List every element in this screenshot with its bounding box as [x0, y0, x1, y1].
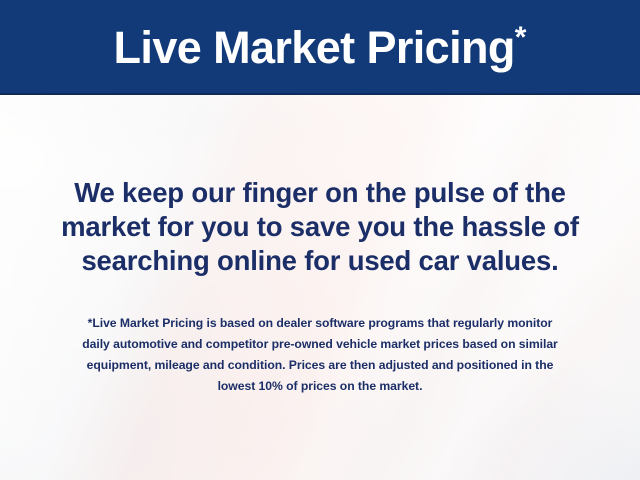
page-title: Live Market Pricing*: [114, 25, 527, 70]
header-band: Live Market Pricing*: [0, 0, 640, 95]
headline-line-1: We keep our finger on the pulse of the: [22, 176, 618, 210]
title-asterisk: *: [515, 21, 527, 54]
disclaimer-text: *Live Market Pricing is based on dealer …: [22, 313, 618, 397]
headline-line-2: market for you to save you the hassle of: [22, 210, 618, 244]
disclaimer-line-2: daily automotive and competitor pre-owne…: [22, 334, 618, 355]
headline-text: We keep our finger on the pulse of the m…: [22, 176, 618, 278]
headline-line-3: searching online for used car values.: [22, 244, 618, 278]
disclaimer-line-3: equipment, mileage and condition. Prices…: [22, 355, 618, 376]
disclaimer-line-1: *Live Market Pricing is based on dealer …: [22, 313, 618, 334]
disclaimer-line-4: lowest 10% of prices on the market.: [22, 376, 618, 397]
live-market-pricing-banner: Live Market Pricing* We keep our finger …: [0, 0, 640, 480]
page-title-text: Live Market Pricing: [114, 22, 515, 73]
